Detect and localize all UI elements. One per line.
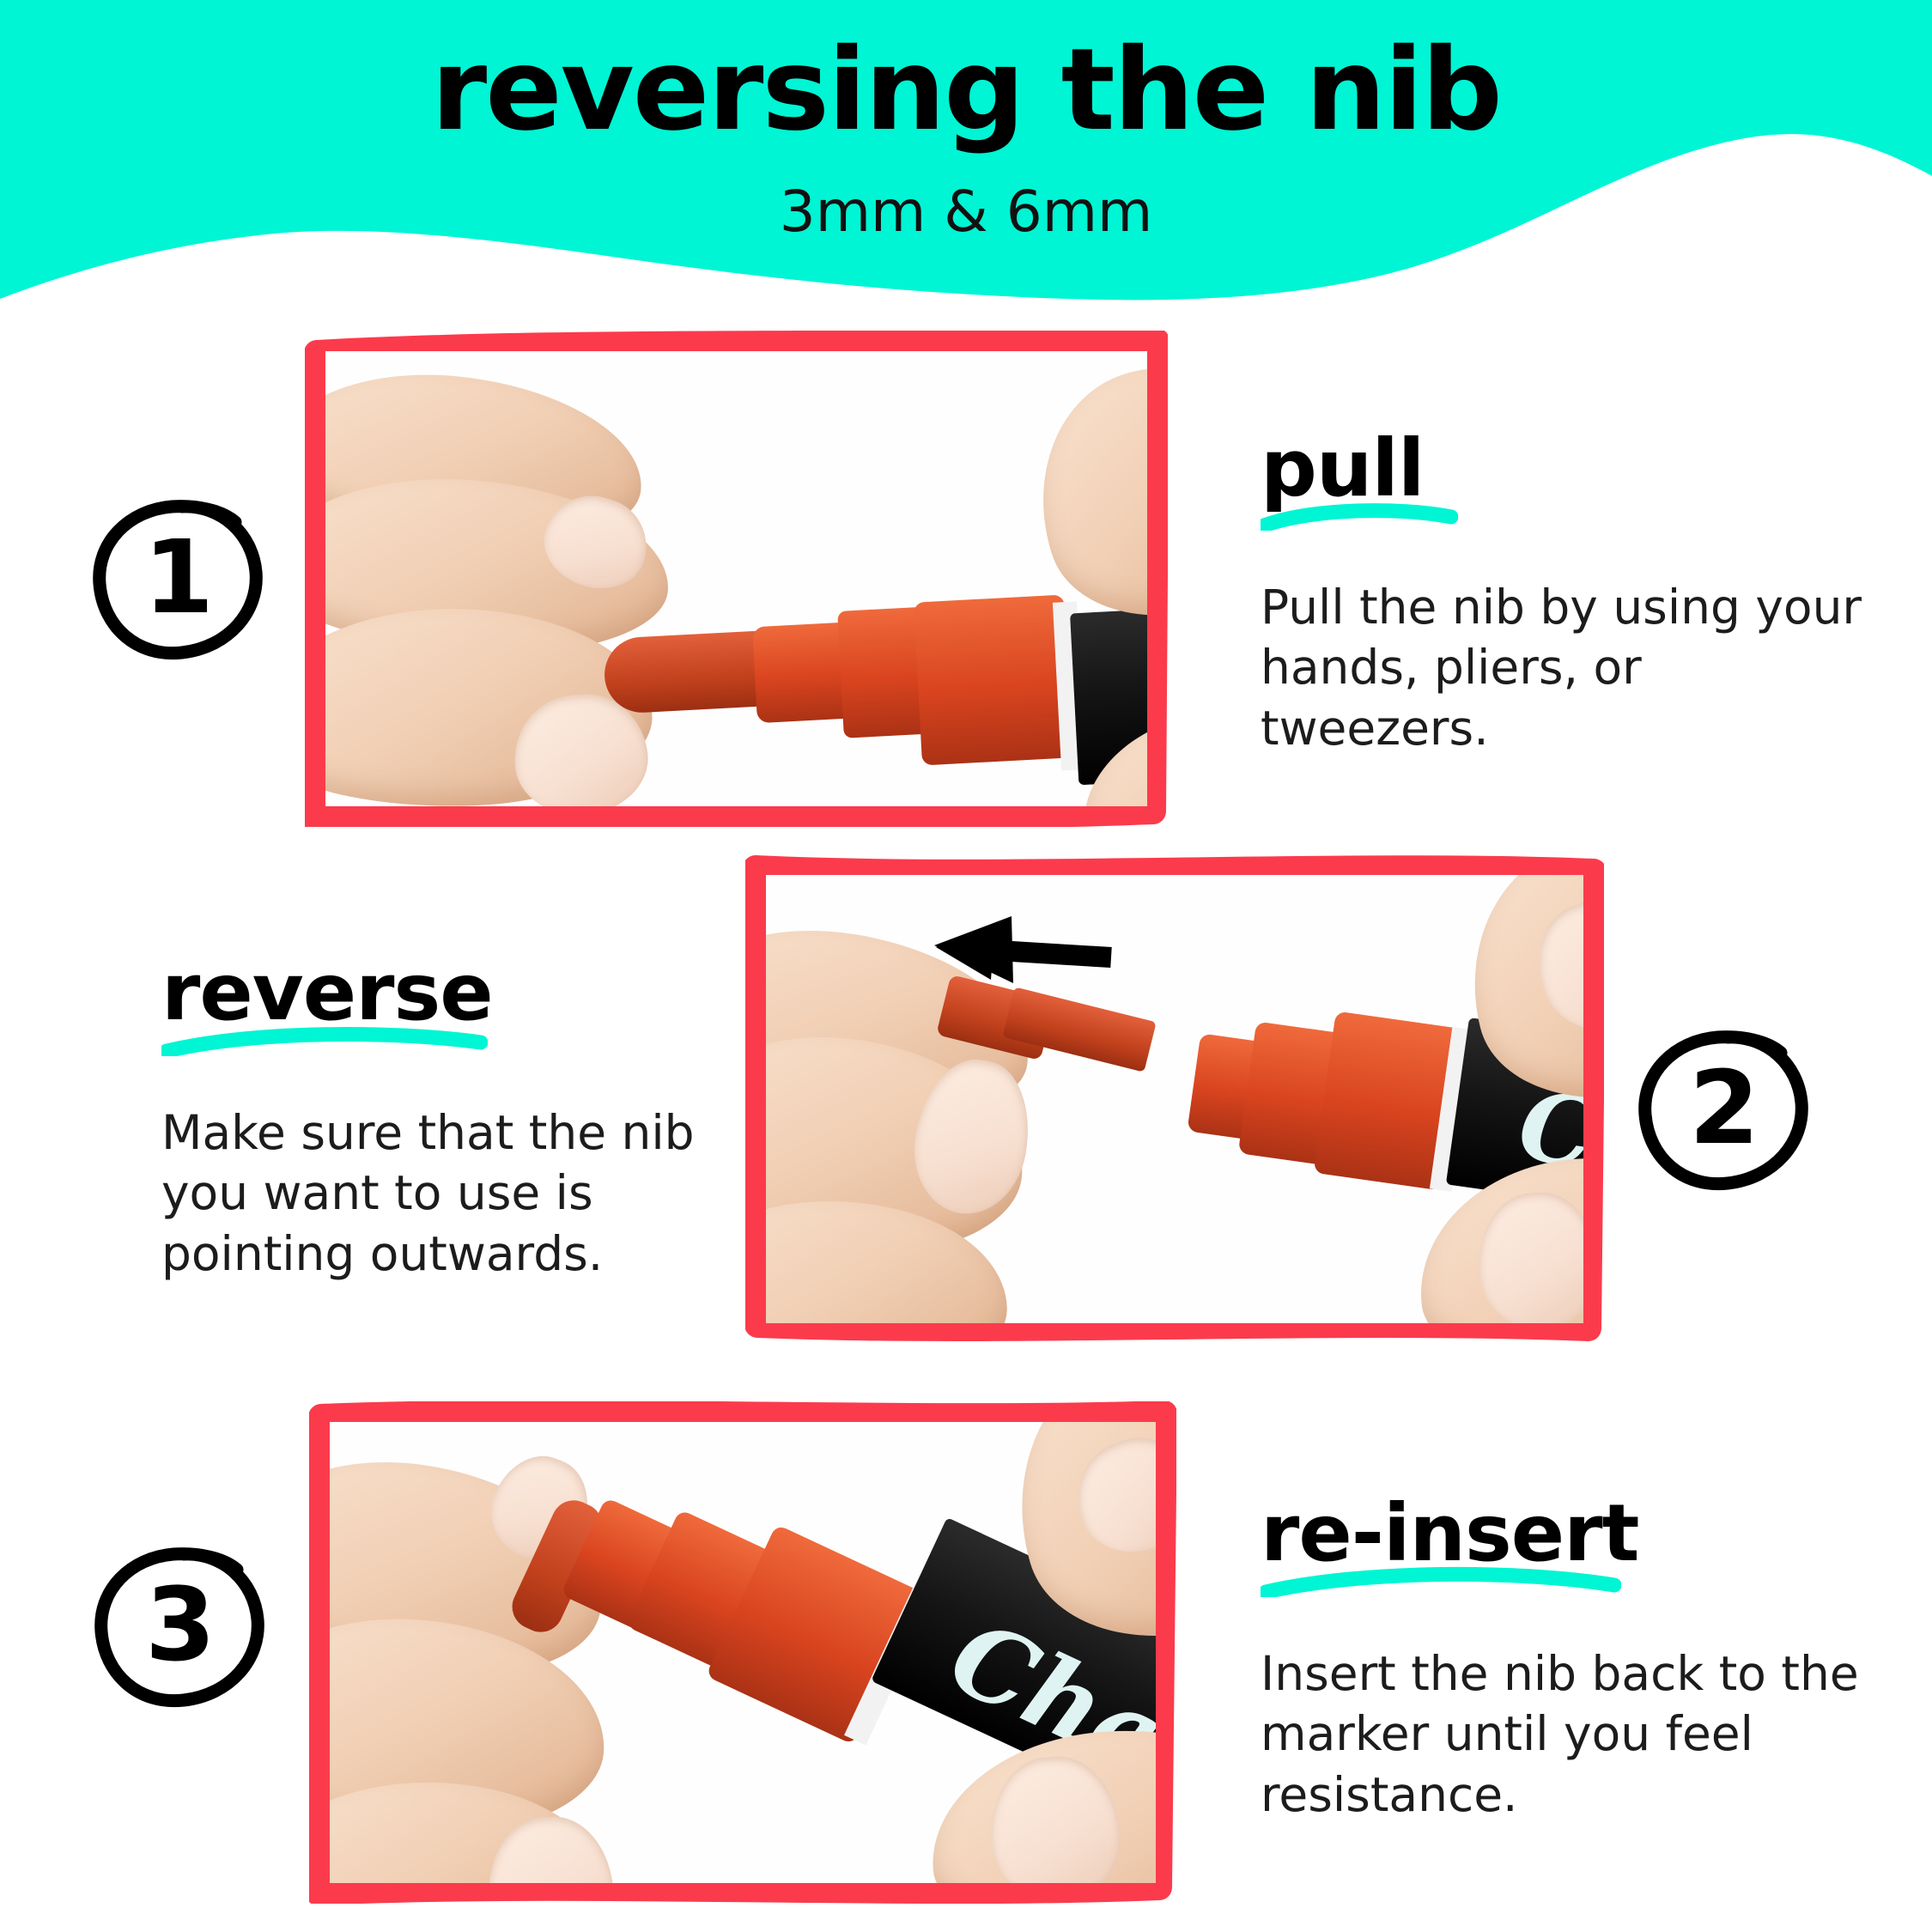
step-heading-3: re-insert <box>1261 1494 1879 1573</box>
step-number-2: 2 <box>1638 1029 1810 1192</box>
step-number-1: 1 <box>93 498 264 661</box>
step-body-1: Pull the nib by using your hands, pliers… <box>1261 577 1870 758</box>
step-badge-3: 3 <box>94 1546 266 1709</box>
marker-cone <box>914 595 1072 766</box>
step-badge-1: 1 <box>93 498 264 661</box>
infographic-canvas: reversing the nib 3mm & 6mm 1 <box>0 0 1932 1932</box>
step-photo-3: Cha <box>330 1422 1156 1883</box>
step-copy-2: reverse Make sure that the nib you want … <box>161 953 711 1284</box>
step-photo-panel-3: Cha <box>309 1401 1176 1904</box>
step-photo-2: C <box>766 875 1583 1323</box>
step-badge-2: 2 <box>1638 1029 1810 1192</box>
step-heading-1: pull <box>1261 429 1870 508</box>
page-subtitle: 3mm & 6mm <box>0 179 1932 245</box>
header-band: reversing the nib 3mm & 6mm <box>0 0 1932 326</box>
step-body-2: Make sure that the nib you want to use i… <box>161 1103 711 1284</box>
step-copy-3: re-insert Insert the nib back to the mar… <box>1261 1494 1879 1825</box>
step-number-3: 3 <box>94 1546 266 1709</box>
step-photo-panel-2: C <box>745 854 1604 1344</box>
step-heading-2: reverse <box>161 953 711 1032</box>
step-body-3: Insert the nib back to the marker until … <box>1261 1643 1879 1825</box>
marker-nib <box>603 630 774 714</box>
page-title: reversing the nib <box>0 31 1932 150</box>
step-photo-1 <box>325 351 1147 806</box>
step-photo-panel-1 <box>305 331 1168 827</box>
step-copy-1: pull Pull the nib by using your hands, p… <box>1261 429 1870 758</box>
